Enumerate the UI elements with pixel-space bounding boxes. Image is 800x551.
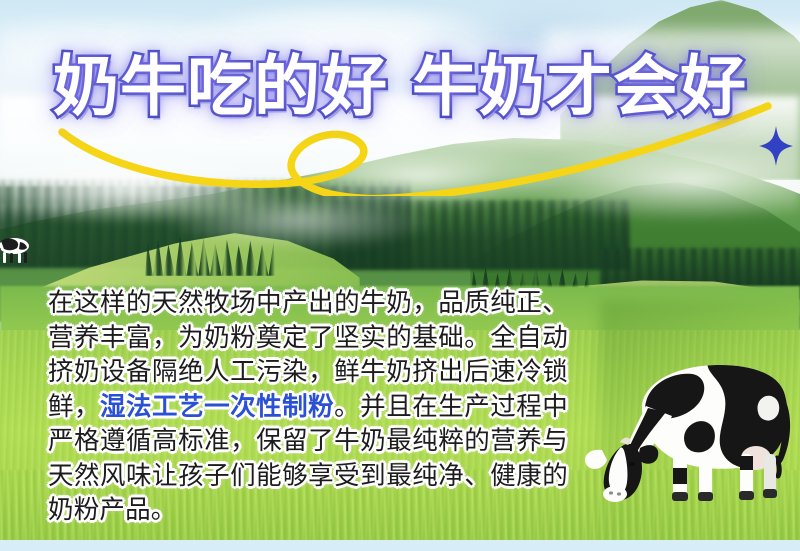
- grass-shadow: [600, 300, 800, 542]
- conifer-forest-right: [600, 248, 800, 306]
- conifer-forest-left: [0, 186, 410, 268]
- poplar-tree-row: [145, 228, 275, 276]
- body-paragraph: 在这样的天然牧场中产出的牛奶，品质纯正、营养丰富，为奶粉奠定了坚实的基础。全自动…: [48, 286, 568, 528]
- cow-grazing-illustration: [580, 336, 798, 508]
- mountain-mist: [0, 150, 800, 260]
- page-title: 奶牛吃的好 牛奶才会好: [0, 48, 800, 126]
- sunlit-pasture-wedge: [30, 228, 360, 292]
- cloud-shape: [430, 0, 670, 46]
- forest-canopy-edge: [0, 180, 410, 204]
- conifer-forest-middle: [330, 200, 630, 270]
- body-paragraph-text: 在这样的天然牧场中产出的牛奶，品质纯正、营养丰富，为奶粉奠定了坚实的基础。全自动…: [48, 286, 568, 528]
- sparkle-icon: [758, 126, 794, 166]
- cow-small-icon: [0, 232, 34, 266]
- bottom-color-strip: [0, 540, 800, 551]
- promo-poster: 奶牛吃的好 牛奶才会好: [0, 0, 800, 551]
- body-text-highlight: 湿法工艺一次性制粉: [100, 392, 334, 422]
